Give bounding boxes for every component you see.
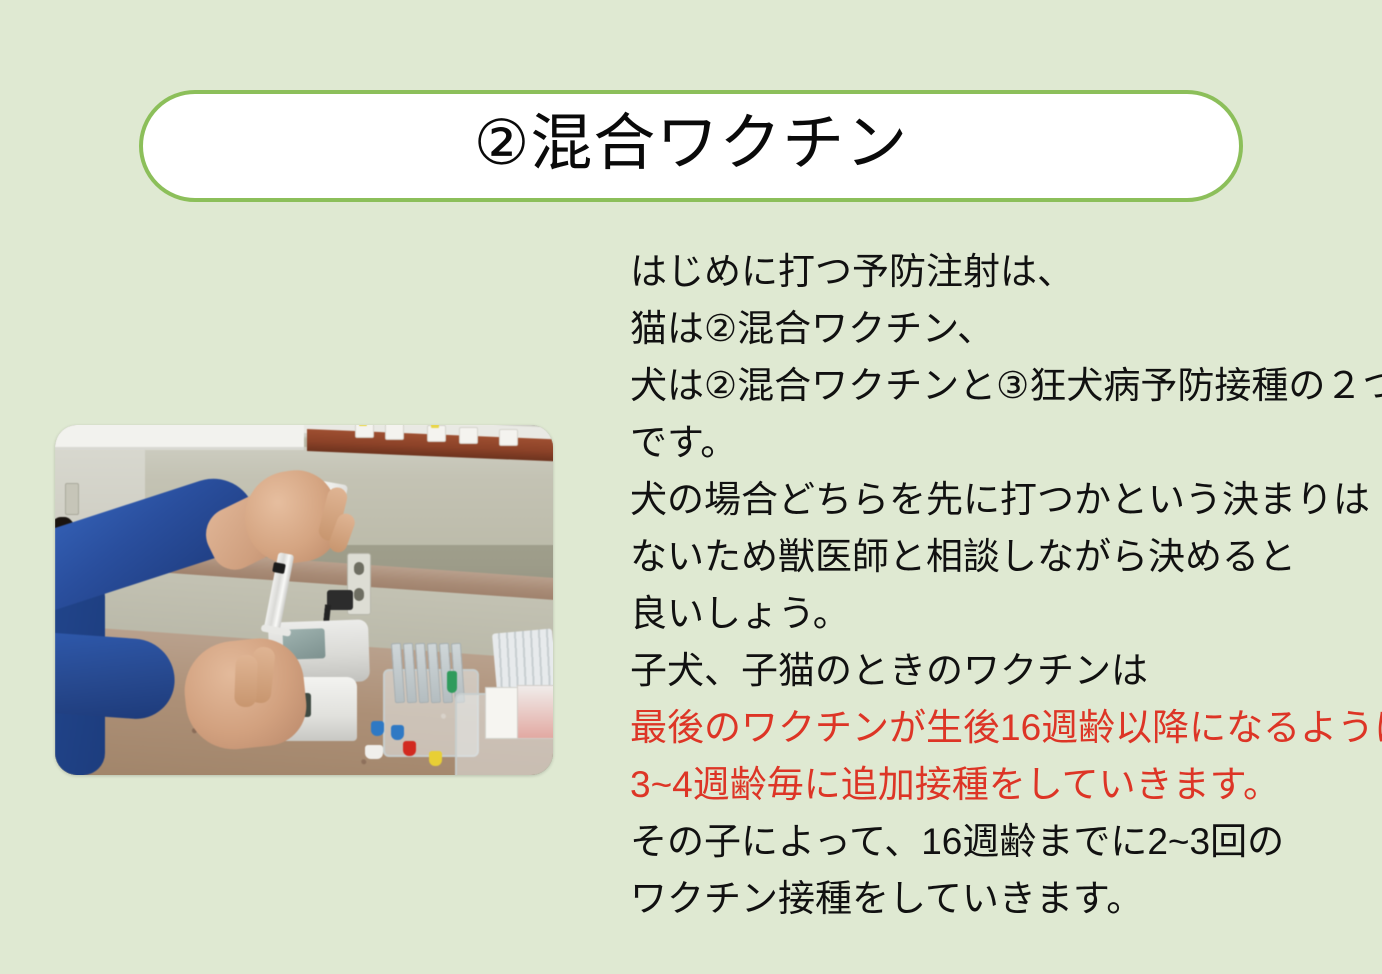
- title-banner: ②混合ワクチン: [139, 90, 1243, 202]
- body-line: 犬の場合どちらを先に打つかという決まりは: [630, 471, 1350, 528]
- photo-bottle-cap: [359, 425, 367, 426]
- photo-supply-cap: [365, 745, 383, 759]
- photo-shelf-bottle: [499, 429, 518, 446]
- body-line: ワクチン接種をしていきます。: [630, 870, 1350, 927]
- photo-supply-cap: [429, 751, 442, 766]
- photo-light-switch: [65, 483, 79, 515]
- photo-outlet-socket: [354, 562, 364, 575]
- photo-cabinet: [55, 425, 304, 450]
- photo-outlet-socket: [354, 588, 364, 601]
- photo-shelf-bottle: [385, 425, 404, 440]
- body-line: です。: [630, 414, 1350, 471]
- body-line: 犬は②混合ワクチンと③狂犬病予防接種の２つ: [630, 357, 1350, 414]
- vaccine-preparation-photo: [55, 425, 553, 775]
- body-line: その子によって、16週齢までに2~3回の: [630, 813, 1350, 870]
- photo-supply-cap: [391, 725, 404, 740]
- body-line: はじめに打つ予防注射は、: [630, 243, 1350, 300]
- photo-test-strip-card: [517, 685, 553, 739]
- body-text-block: はじめに打つ予防注射は、 猫は②混合ワクチン、 犬は②混合ワクチンと③狂犬病予防…: [630, 243, 1350, 927]
- body-line: 猫は②混合ワクチン、: [630, 300, 1350, 357]
- photo-supply-cap: [403, 741, 416, 756]
- body-line-highlighted: 3~4週齢毎に追加接種をしていきます。: [630, 756, 1350, 813]
- photo-bottle-cap: [431, 425, 439, 428]
- body-line-highlighted: 最後のワクチンが生後16週齢以降になるように: [630, 699, 1350, 756]
- photo-shelf-bottle: [459, 427, 478, 444]
- body-line: 良いしょう。: [630, 585, 1350, 642]
- photo-test-strip-card: [485, 687, 521, 739]
- photo-supply-cap: [447, 671, 457, 693]
- body-line: 子犬、子猫のときのワクチンは: [630, 642, 1350, 699]
- body-line: ないため獣医師と相談しながら決めると: [630, 528, 1350, 585]
- photo-shelf-bottle: [355, 425, 374, 438]
- page-title: ②混合ワクチン: [474, 113, 909, 175]
- photo-finger: [234, 655, 258, 708]
- photo-supply-cap: [371, 721, 384, 736]
- photo-syringe-plunger: [272, 562, 286, 574]
